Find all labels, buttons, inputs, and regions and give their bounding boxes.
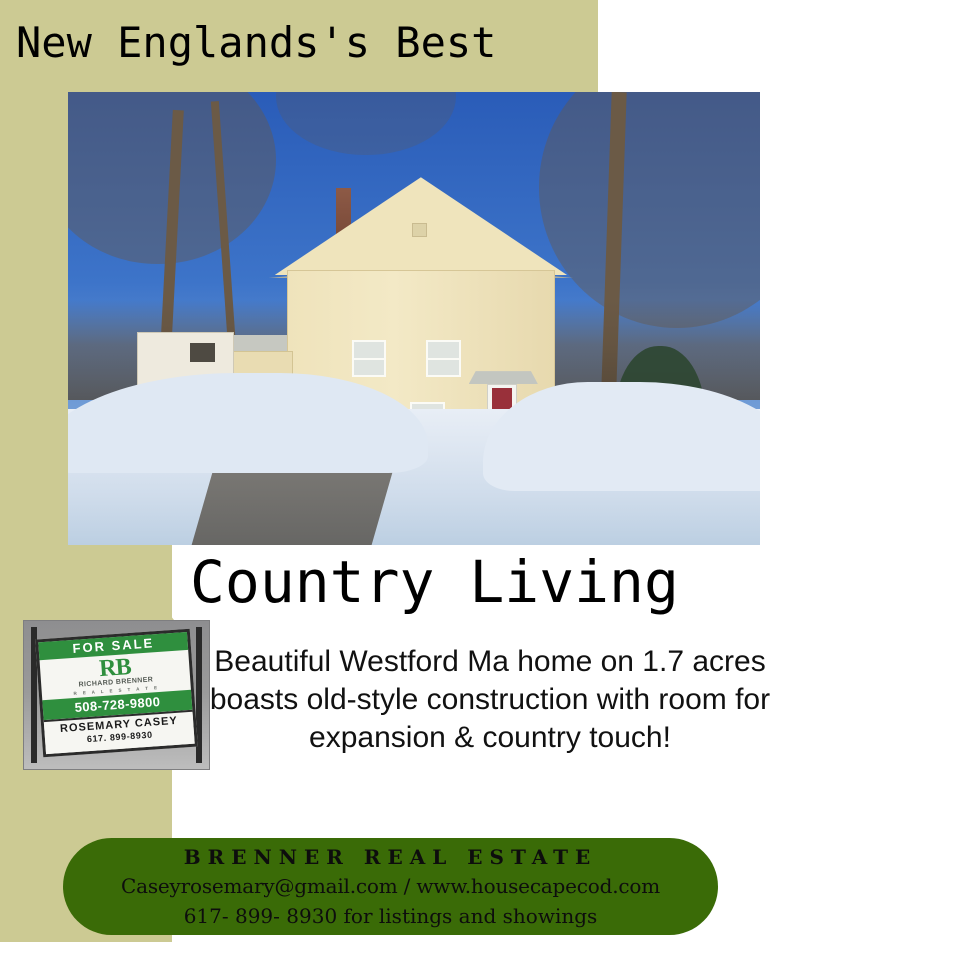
company-name: BRENNER REAL ESTATE bbox=[63, 843, 718, 871]
headline-top: New Englands's Best bbox=[16, 18, 496, 67]
background-band-left-upper bbox=[0, 92, 68, 545]
contact-phone: 617- 899- 8930 for listings and showings bbox=[63, 901, 718, 931]
rb-logo: RB bbox=[98, 656, 131, 680]
snow-bank-right bbox=[483, 382, 760, 491]
property-photo bbox=[68, 92, 760, 545]
contact-email-website[interactable]: Caseyrosemary@gmail.com / www.housecapec… bbox=[63, 871, 718, 901]
porch-roof bbox=[469, 371, 538, 384]
headline-main: Country Living bbox=[190, 548, 679, 616]
window-upper-left bbox=[352, 340, 387, 377]
window-upper-right bbox=[426, 340, 461, 377]
yard-sign-board: FOR SALE RB RICHARD BRENNER R E A L E S … bbox=[35, 629, 198, 758]
real-estate-flyer: New Englands's Best bbox=[0, 0, 961, 979]
yard-sign-photo: FOR SALE RB RICHARD BRENNER R E A L E S … bbox=[23, 620, 210, 770]
property-description: Beautiful Westford Ma home on 1.7 acres … bbox=[205, 643, 775, 757]
contact-banner: BRENNER REAL ESTATE Caseyrosemary@gmail.… bbox=[63, 838, 718, 935]
gable-vent bbox=[412, 223, 427, 237]
